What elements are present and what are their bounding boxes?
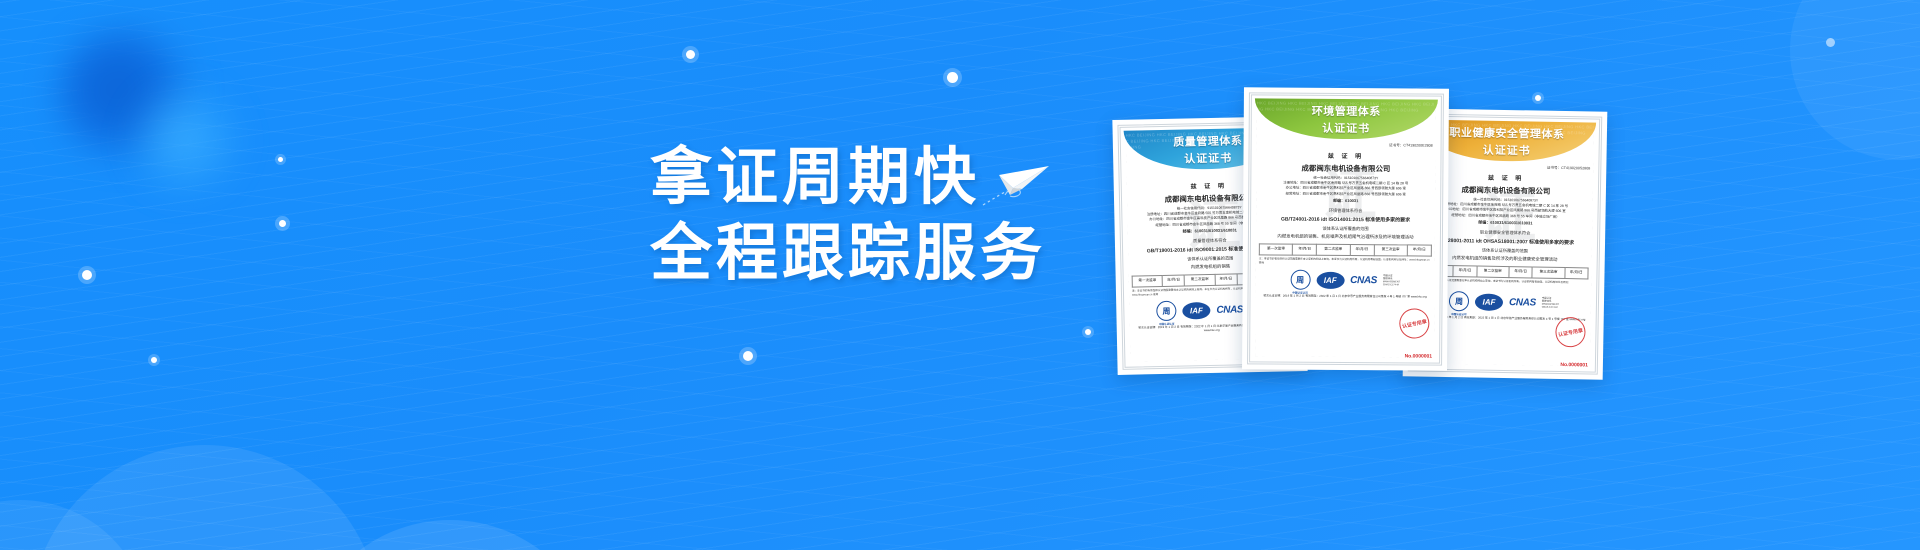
iaf-logo-icon: IAF <box>1316 271 1344 288</box>
certificate-title-line2: 认证证书 <box>1184 149 1232 166</box>
certificate-title-line1: 质量管理体系 <box>1173 132 1242 149</box>
decorative-dot-5 <box>947 72 958 83</box>
paper-plane-icon <box>975 155 1053 213</box>
certificate-note: 注：本证书的有效性和认证范围需要在本认证机构网站上查询，本证书为认证机构所有，认… <box>1259 257 1432 265</box>
cnas-logo-icon: CNAS <box>1216 304 1243 316</box>
audit-cell: 第二次监审 <box>1317 244 1350 255</box>
audit-cell: 第二次监审 <box>1477 266 1509 278</box>
promo-banner: 拿证周期快 全程跟踪服务 HKC BEIJING HKC BEIJING HKC… <box>0 0 1920 550</box>
decorative-circle-1 <box>30 445 380 550</box>
iaf-logo-icon: IAF <box>1182 302 1210 320</box>
decorative-circle-2 <box>0 500 150 550</box>
decorative-circle-3 <box>300 520 600 550</box>
audit-cell: 第三次监审 <box>1532 267 1564 279</box>
certificate-title-line1: 职业健康安全管理体系 <box>1449 124 1564 142</box>
headline-line-2: 全程跟踪服务 <box>650 216 1046 292</box>
audit-cell: 第一次监审 <box>1132 275 1163 287</box>
audit-cell: 年/月/日 <box>1293 244 1317 255</box>
audit-cell: 第一次监审 <box>1259 244 1292 255</box>
audit-cell: 年/月/日 <box>1350 244 1374 255</box>
certificate-number: No.0000001 <box>1560 362 1588 368</box>
audit-cell: 年/月/日 <box>1162 275 1184 287</box>
cnas-caption: 中国认证管理体系MANAGEMENTCNAS C174-M <box>1383 274 1400 287</box>
certificate-audit-table: 第一次监审 年/月/日 第二次监审 年/月/日 第三次监审 年/月/日 <box>1259 243 1432 256</box>
certificate-header-environment: HKC BEIJING HKC BEIJING HKC BEIJING HKC … <box>1255 98 1438 139</box>
decorative-dot-1 <box>279 220 286 227</box>
certificate-subtitle: 环境管理体系符合 <box>1259 207 1432 214</box>
certificate-serial: 证书号：CT4190200E2808 <box>1260 142 1433 148</box>
audit-cell: 年/月/日 <box>1453 265 1477 277</box>
audit-cell: 年/月/日 <box>1564 267 1588 279</box>
seal-caption: 中国认证认可 <box>1292 291 1308 295</box>
dark-blue-glow <box>58 30 198 160</box>
certificate-title-line2: 认证证书 <box>1483 141 1531 158</box>
audit-cell: 第三次监审 <box>1374 245 1407 256</box>
cnas-logo-icon: CNAS <box>1509 297 1536 308</box>
decorative-dot-2 <box>82 270 92 280</box>
decorative-circle-4 <box>1790 0 1920 160</box>
cyan-glow <box>120 80 250 200</box>
certificate-title-line1: 环境管理体系 <box>1312 102 1381 118</box>
china-certification-seal-icon: 周 中国认证认可 <box>1449 291 1469 311</box>
china-certification-seal-icon: 周 中国认证认可 <box>1156 301 1176 321</box>
red-seal-stamp: 认证专用章 <box>1397 306 1432 341</box>
decorative-dot-7 <box>1085 329 1091 335</box>
seal-caption: 中国认证认可 <box>1159 322 1175 326</box>
certificate-company: 成都闽东电机设备有限公司 <box>1259 162 1432 174</box>
audit-cell: 年/月/日 <box>1215 274 1237 286</box>
china-certification-seal-icon: 周 中国认证认可 <box>1290 270 1310 290</box>
certificate-title-line2: 认证证书 <box>1322 119 1370 135</box>
cnas-caption: 中国认证管理体系MANAGEMENTCNAS C174-M <box>1542 296 1559 309</box>
seal-caption: 中国认证认可 <box>1451 312 1467 316</box>
certificate-number: No.0000001 <box>1405 353 1433 359</box>
certificate-logos: 周 中国认证认可 IAF CNAS 中国认证管理体系MANAGEMENTCNAS… <box>1259 270 1432 291</box>
certificate-group: HKC BEIJING HKC BEIJING HKC BEIJING HKC … <box>1115 88 1645 378</box>
decorative-dot-10 <box>278 157 283 162</box>
certificate-scope: 内燃发电机组的销售、机房噪声及机组尾气治理所涉及的环境管理活动 <box>1259 233 1432 240</box>
cnas-logo-icon: CNAS <box>1350 275 1377 286</box>
certificate-standard: GB/T24001-2016 idt ISO14001:2015 标准使用多家的… <box>1259 215 1432 223</box>
decorative-dot-4 <box>686 50 695 59</box>
certificate-environment[interactable]: HKC BEIJING HKC BEIJING HKC BEIJING HKC … <box>1242 87 1449 370</box>
certificate-zip: 邮编：610031 <box>1259 197 1432 204</box>
audit-cell: 年/月/日 <box>1509 266 1533 278</box>
certificate-scope-title: 该体系认证所覆盖的范围 <box>1259 225 1432 232</box>
audit-cell: 年/月/日 <box>1407 245 1431 256</box>
decorative-dot-9 <box>1826 38 1835 47</box>
decorative-dot-6 <box>743 351 753 361</box>
decorative-dot-3 <box>151 357 157 363</box>
certificate-label: 兹 证 明 <box>1259 150 1432 160</box>
iaf-logo-icon: IAF <box>1475 293 1503 310</box>
audit-cell: 第二次监审 <box>1184 274 1215 286</box>
certificate-footer: 初次认证日期：2019 年 1 月 2 日 有效期至：2022 年 1 月 1 … <box>1259 294 1432 299</box>
